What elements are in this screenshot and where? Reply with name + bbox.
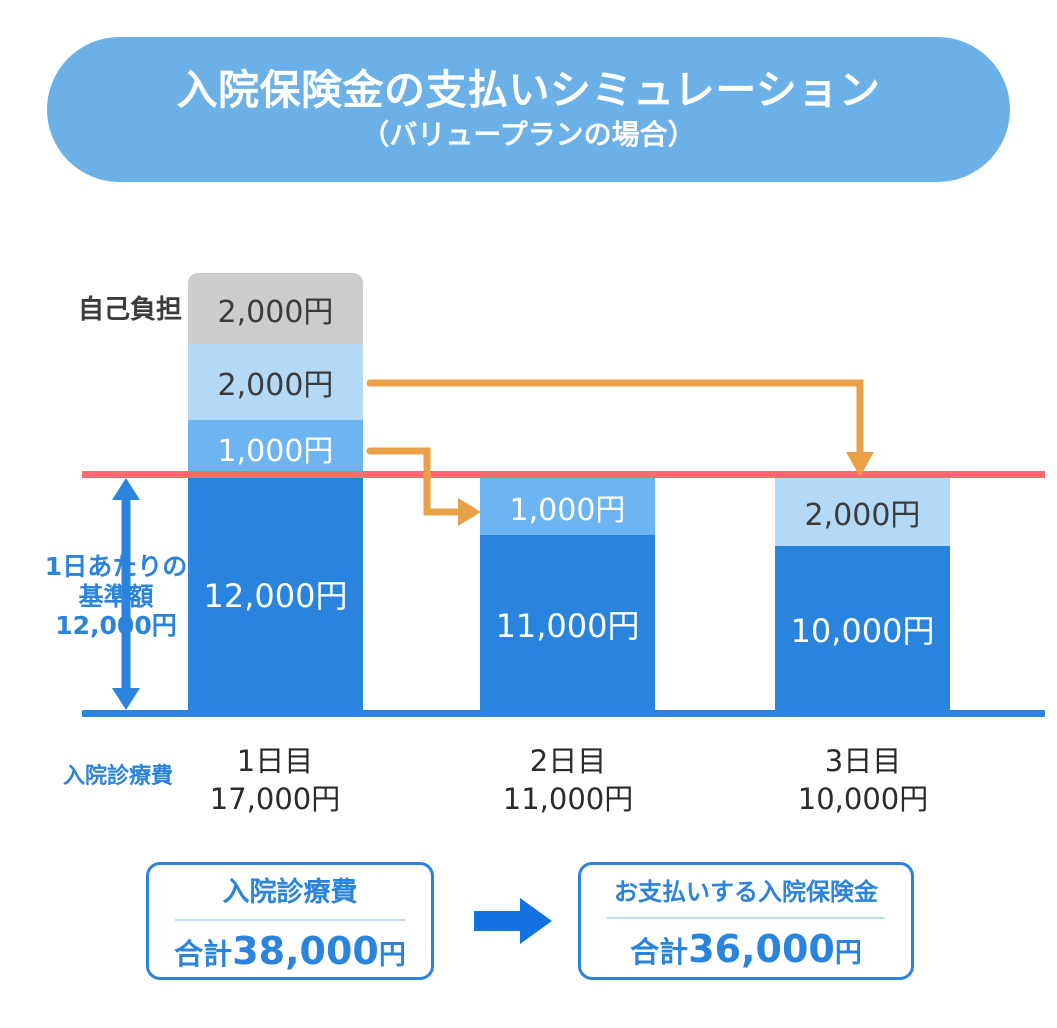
total-yen: 円 — [379, 940, 406, 971]
day-name: 2日目 — [448, 742, 688, 780]
standard-amount-line-1: 1日あたりの — [42, 552, 190, 582]
total-word: 合計 — [174, 937, 232, 971]
day-cost: 11,000円 — [448, 780, 688, 818]
total-number: 36,000 — [688, 927, 835, 971]
day-label-3: 3日目 10,000円 — [743, 742, 983, 819]
day-cost: 10,000円 — [743, 780, 983, 818]
summary-heading: お支払いする入院保険金 — [614, 872, 878, 907]
day-name: 3日目 — [743, 742, 983, 780]
total-word: 合計 — [630, 935, 688, 969]
day-cost: 17,000円 — [155, 780, 395, 818]
standard-amount-label: 1日あたりの 基準額 12,000円 — [42, 552, 190, 641]
day-label-2: 2日目 11,000円 — [448, 742, 688, 819]
summary-box-insurance-benefit: お支払いする入院保険金 合計36,000円 — [578, 862, 914, 980]
summary-total: 合計38,000円 — [174, 929, 406, 973]
standard-amount-line-2: 基準額 — [42, 582, 190, 612]
total-number: 38,000 — [232, 929, 379, 973]
total-yen: 円 — [835, 938, 862, 969]
summary-total: 合計36,000円 — [630, 927, 862, 971]
day-label-1: 1日目 17,000円 — [155, 742, 395, 819]
day-name: 1日目 — [155, 742, 395, 780]
summary-box-inpatient-cost: 入院診療費 合計38,000円 — [146, 862, 434, 980]
summary-heading: 入院診療費 — [223, 870, 358, 909]
carryover-arrow-to-day-3 — [370, 383, 874, 477]
carryover-arrow-to-day-2 — [370, 451, 481, 526]
self-pay-label: 自己負担 — [78, 289, 182, 326]
divider — [175, 919, 405, 921]
divider — [607, 917, 885, 919]
right-arrow-icon — [474, 898, 552, 944]
standard-amount-line-3: 12,000円 — [42, 611, 190, 641]
